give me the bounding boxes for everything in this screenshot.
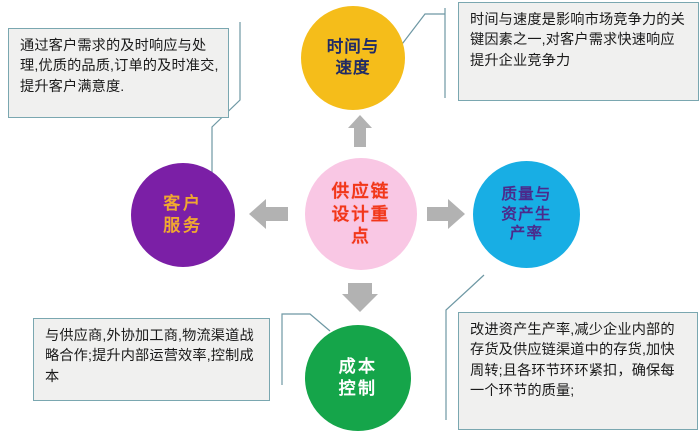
- arrow-up-icon: [348, 115, 372, 147]
- arrow-right-icon: [427, 199, 465, 229]
- node-customer-service-label: 客户 服务: [163, 193, 202, 237]
- node-customer-service[interactable]: 客户 服务: [131, 163, 235, 267]
- node-quality-asset-productivity[interactable]: 质量与 资产生 产率: [473, 161, 580, 268]
- callout-cost-control: 与供应商,外协加工商,物流渠道战略合作;提升内部运营效率,控制成本: [33, 318, 270, 401]
- node-center-label: 供应链 设计重 点: [332, 180, 391, 247]
- node-time-speed[interactable]: 时间与 速度: [301, 6, 405, 110]
- callout-time-speed: 时间与速度是影响市场竞争力的关键因素之一,对客户需求快速响应提升企业竞争力: [458, 2, 699, 101]
- arrow-left-icon: [249, 199, 288, 229]
- node-cost-control-label: 成本 控制: [339, 356, 378, 400]
- arrow-down-icon: [342, 283, 378, 312]
- node-time-speed-label: 时间与 速度: [327, 37, 379, 79]
- callout-customer-service: 通过客户需求的及时响应与处理,优质的品质,订单的及时准交,提升客户满意度.: [8, 28, 229, 118]
- callout-quality-asset-productivity: 改进资产生产率,减少企业内部的存货及供应链渠道中的存货,加快周转;且各环节环环紧…: [458, 312, 698, 430]
- node-supply-chain-center[interactable]: 供应链 设计重 点: [305, 158, 417, 270]
- node-quality-asset-label: 质量与 资产生 产率: [501, 185, 551, 244]
- diagram-canvas: 供应链 设计重 点 时间与 速度 客户 服务 质量与 资产生 产率 成本 控制 …: [0, 0, 700, 439]
- node-cost-control[interactable]: 成本 控制: [305, 325, 411, 431]
